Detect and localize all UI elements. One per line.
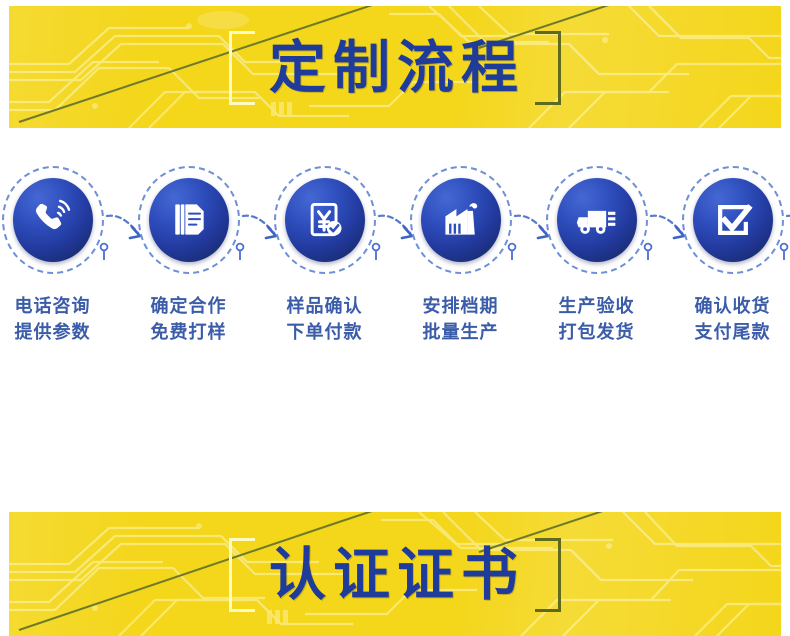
step-4-disc[interactable] [421, 178, 501, 262]
delivery-truck-icon [573, 198, 621, 242]
step-5-label-line2: 打包发货 [559, 322, 635, 343]
step-5-label: 生产验收 打包发货 [531, 294, 662, 345]
process-step-list: 电话咨询 提供参数 [0, 160, 790, 360]
step-2-label: 确定合作 免费打样 [123, 294, 254, 345]
step-2-label-line2: 免费打样 [151, 322, 227, 343]
process-step-3[interactable]: 样品确认 下单付款 [259, 160, 390, 345]
process-step-1[interactable]: 电话咨询 提供参数 [0, 160, 118, 345]
custom-process-flow: 电话咨询 提供参数 [0, 160, 790, 360]
bracket-right-icon [535, 31, 561, 105]
step-6-circle-slot [667, 160, 790, 280]
process-step-2[interactable]: 确定合作 免费打样 [123, 160, 254, 345]
step-4-label: 安排档期 批量生产 [395, 294, 526, 345]
step-4-label-line1: 安排档期 [423, 296, 499, 317]
step-6-disc[interactable] [693, 178, 773, 262]
process-step-5[interactable]: 生产验收 打包发货 [531, 160, 662, 345]
bottom-title-banner: 认证证书 [9, 512, 781, 636]
page-title-bottom: 认证证书 [265, 546, 525, 604]
phone-call-icon [31, 198, 75, 242]
documents-icon [167, 198, 211, 242]
top-banner-title-wrap: 定制流程 [9, 6, 781, 128]
step-5-label-line1: 生产验收 [559, 296, 635, 317]
step-1-circle-slot [0, 160, 118, 280]
bracket-left-icon [229, 31, 255, 105]
page-title-top: 定制流程 [265, 39, 525, 97]
step-4-circle-slot [395, 160, 526, 280]
top-title-frame: 定制流程 [229, 33, 561, 101]
process-step-6[interactable]: 确认收货 支付尾款 [667, 160, 790, 345]
yen-payment-icon [303, 198, 347, 242]
step-3-circle-slot [259, 160, 390, 280]
bracket-right-icon [535, 538, 561, 612]
checkbox-check-icon [711, 198, 755, 242]
dashed-arrow-icon-6 [785, 212, 790, 246]
factory-icon [438, 198, 484, 242]
step-1-label-line1: 电话咨询 [15, 296, 91, 317]
step-3-disc[interactable] [285, 178, 365, 262]
step-5-circle-slot [531, 160, 662, 280]
step-1-disc[interactable] [13, 178, 93, 262]
step-6-label-line2: 支付尾款 [695, 322, 771, 343]
step-1-label-line2: 提供参数 [15, 322, 91, 343]
step-3-label-line2: 下单付款 [287, 322, 363, 343]
top-title-banner: 定制流程 [9, 6, 781, 128]
step-2-disc[interactable] [149, 178, 229, 262]
bracket-left-icon [229, 538, 255, 612]
step-3-label: 样品确认 下单付款 [259, 294, 390, 345]
bottom-banner-title-wrap: 认证证书 [9, 512, 781, 636]
step-5-disc[interactable] [557, 178, 637, 262]
step-1-label: 电话咨询 提供参数 [0, 294, 118, 345]
step-6-label-line1: 确认收货 [695, 296, 771, 317]
step-4-label-line2: 批量生产 [423, 322, 499, 343]
bottom-title-frame: 认证证书 [229, 540, 561, 608]
step-3-label-line1: 样品确认 [287, 296, 363, 317]
step-2-label-line1: 确定合作 [151, 296, 227, 317]
step-6-label: 确认收货 支付尾款 [667, 294, 790, 345]
process-step-4[interactable]: 安排档期 批量生产 [395, 160, 526, 345]
step-2-circle-slot [123, 160, 254, 280]
